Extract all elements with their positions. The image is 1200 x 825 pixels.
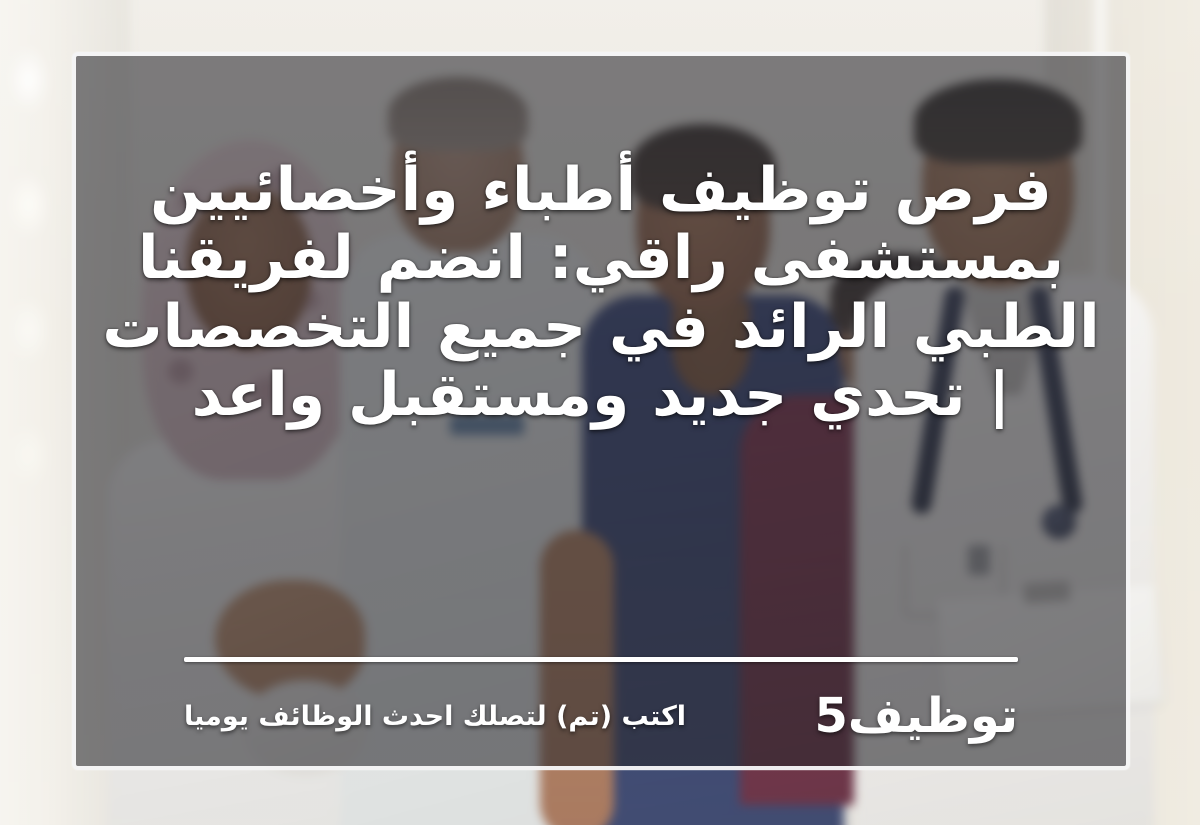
- text-overlay-card: فرص توظيف أطباء وأخصائيين بمستشفى راقي: …: [72, 52, 1130, 770]
- footer-row: توظيف5 اكتب (تم) لتصلك احدث الوظائف يومي…: [184, 678, 1018, 754]
- tagline: اكتب (تم) لتصلك احدث الوظائف يوميا: [184, 701, 696, 732]
- brand-name: توظيف: [848, 692, 1018, 740]
- overlay-content: فرص توظيف أطباء وأخصائيين بمستشفى راقي: …: [76, 56, 1126, 766]
- brand-number: 5: [815, 692, 848, 740]
- divider: [184, 657, 1018, 662]
- brand-logo: توظيف5: [815, 692, 1019, 740]
- banner-stage: فرص توظيف أطباء وأخصائيين بمستشفى راقي: …: [0, 0, 1200, 825]
- page-title: فرص توظيف أطباء وأخصائيين بمستشفى راقي: …: [102, 156, 1100, 430]
- ceiling-lights: [0, 20, 60, 540]
